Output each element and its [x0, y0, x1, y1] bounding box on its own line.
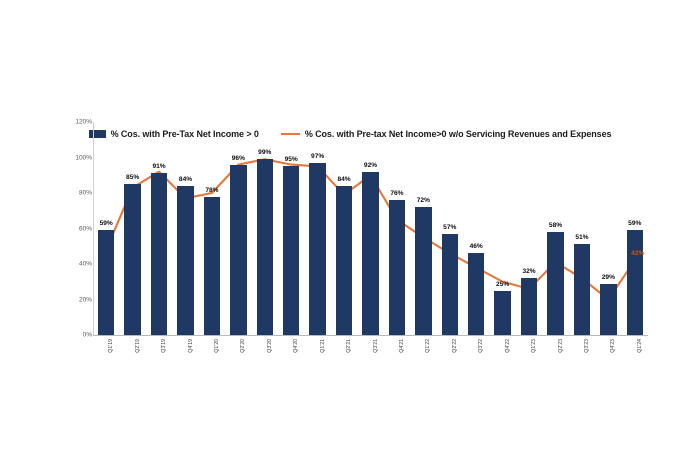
bar[interactable] — [494, 291, 510, 335]
y-axis-tick-label: 120% — [75, 119, 92, 126]
bar-value-label: 59% — [100, 220, 113, 227]
bar-value-label: 99% — [258, 149, 271, 156]
bar-value-label: 84% — [179, 176, 192, 183]
x-axis-tick-label: Q4'22 — [505, 339, 511, 353]
plot-area: 59%85%91%84%78%96%99%95%97%84%92%76%72%5… — [93, 122, 648, 335]
y-axis-tick-label: 0% — [83, 332, 92, 339]
bar[interactable] — [98, 230, 114, 335]
bar-value-label: 85% — [126, 174, 139, 181]
x-axis-tick-label: Q1'22 — [425, 339, 431, 353]
bar[interactable] — [309, 163, 325, 335]
chart-container: % Cos. with Pre-Tax Net Income > 0 % Cos… — [0, 0, 700, 453]
bar-value-label: 76% — [390, 190, 403, 197]
bar-value-label: 46% — [470, 243, 483, 250]
x-axis-tick-label: Q1'21 — [320, 339, 326, 353]
bar[interactable] — [230, 165, 246, 335]
x-axis-tick-label: Q1'23 — [531, 339, 537, 353]
bar-value-label: 57% — [443, 224, 456, 231]
x-axis: Q1'19Q2'19Q3'19Q4'19Q1'20Q2'20Q3'20Q4'20… — [93, 337, 648, 365]
x-axis-tick-label: Q4'19 — [188, 339, 194, 353]
bar[interactable] — [389, 200, 405, 335]
x-axis-tick-label: Q3'22 — [478, 339, 484, 353]
bar[interactable] — [600, 284, 616, 335]
x-axis-tick-label: Q2'21 — [346, 339, 352, 353]
y-axis-tick-label: 20% — [79, 296, 92, 303]
y-axis-tick-label: 60% — [79, 225, 92, 232]
bar-value-label: 97% — [311, 153, 324, 160]
bar[interactable] — [124, 184, 140, 335]
bar-value-label: 32% — [522, 268, 535, 275]
x-axis-tick-label: Q2'19 — [135, 339, 141, 353]
bar[interactable] — [257, 159, 273, 335]
x-axis-tick-label: Q3'23 — [584, 339, 590, 353]
bar[interactable] — [336, 186, 352, 335]
bar-value-label: 84% — [337, 176, 350, 183]
x-axis-tick-label: Q3'21 — [373, 339, 379, 353]
x-axis-tick-label: Q2'22 — [452, 339, 458, 353]
bar-value-label: 59% — [628, 220, 641, 227]
bar-value-label: 78% — [205, 187, 218, 194]
y-axis-tick-label: 80% — [79, 190, 92, 197]
bar[interactable] — [415, 207, 431, 335]
bar[interactable] — [151, 173, 167, 335]
y-axis: 0%20%40%60%80%100%120% — [62, 118, 92, 342]
bar[interactable] — [177, 186, 193, 335]
bar[interactable] — [204, 197, 220, 335]
x-axis-tick-label: Q2'23 — [558, 339, 564, 353]
bar-value-label: 92% — [364, 162, 377, 169]
y-axis-tick-label: 40% — [79, 261, 92, 268]
bar-value-label: 58% — [549, 222, 562, 229]
x-axis-tick-label: Q3'20 — [267, 339, 273, 353]
x-axis-tick-label: Q3'19 — [161, 339, 167, 353]
x-axis-tick-label: Q1'24 — [637, 339, 643, 353]
bar-value-label: 72% — [417, 197, 430, 204]
bar-value-label: 95% — [285, 156, 298, 163]
x-axis-tick-label: Q1'19 — [108, 339, 114, 353]
bar[interactable] — [627, 230, 643, 335]
bar[interactable] — [283, 166, 299, 335]
bar[interactable] — [547, 232, 563, 335]
bar-value-label: 29% — [602, 274, 615, 281]
x-axis-tick-label: Q4'23 — [610, 339, 616, 353]
x-axis-tick-label: Q2'20 — [240, 339, 246, 353]
x-axis-tick-label: Q4'20 — [293, 339, 299, 353]
bar[interactable] — [468, 253, 484, 335]
line-value-label: 42% — [631, 250, 644, 257]
bar-value-label: 25% — [496, 281, 509, 288]
bar[interactable] — [442, 234, 458, 335]
x-axis-line — [93, 335, 648, 336]
bar-value-label: 51% — [575, 234, 588, 241]
bar[interactable] — [521, 278, 537, 335]
x-axis-tick-label: Q4'21 — [399, 339, 405, 353]
bar[interactable] — [362, 172, 378, 335]
y-axis-tick-label: 100% — [75, 154, 92, 161]
bar[interactable] — [574, 244, 590, 335]
bar-value-label: 96% — [232, 155, 245, 162]
bar-value-label: 91% — [152, 163, 165, 170]
x-axis-tick-label: Q1'20 — [214, 339, 220, 353]
